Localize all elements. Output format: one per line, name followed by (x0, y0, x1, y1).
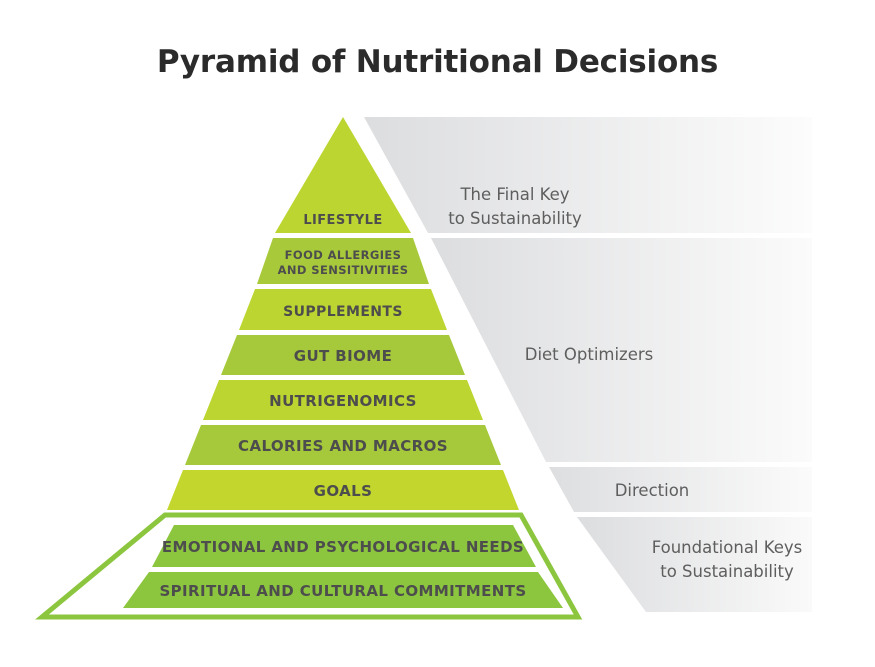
tier-label-lifestyle: LIFESTYLE (303, 213, 382, 228)
side-label-direction: Direction (615, 481, 690, 500)
side-panel-final-key (364, 117, 812, 233)
side-label-final-key-line1: The Final Key (459, 185, 569, 204)
tier-label-goals: GOALS (314, 482, 373, 500)
tier-label-food-allergies-line1: FOOD ALLERGIES (285, 248, 402, 262)
pyramid-infographic: Pyramid of Nutritional Decisions (0, 0, 875, 667)
tier-label-supplements: SUPPLEMENTS (283, 304, 403, 320)
pyramid-diagram: LIFESTYLE FOOD ALLERGIES AND SENSITIVITI… (0, 0, 875, 667)
tier-label-gut-biome: GUT BIOME (294, 347, 393, 365)
side-label-diet-optimizers: Diet Optimizers (525, 345, 654, 364)
side-label-final-key-line2: to Sustainability (448, 209, 582, 228)
tier-label-food-allergies-line2: AND SENSITIVITIES (278, 263, 409, 277)
tier-label-emotional-needs: EMOTIONAL AND PSYCHOLOGICAL NEEDS (162, 538, 524, 556)
side-label-foundational-keys-line2: to Sustainability (660, 562, 794, 581)
side-label-foundational-keys-line1: Foundational Keys (652, 538, 803, 557)
tier-label-calories-macros: CALORIES AND MACROS (238, 437, 448, 455)
tier-label-spiritual-commitments: SPIRITUAL AND CULTURAL COMMITMENTS (159, 582, 526, 600)
tier-label-nutrigenomics: NUTRIGENOMICS (269, 392, 417, 410)
